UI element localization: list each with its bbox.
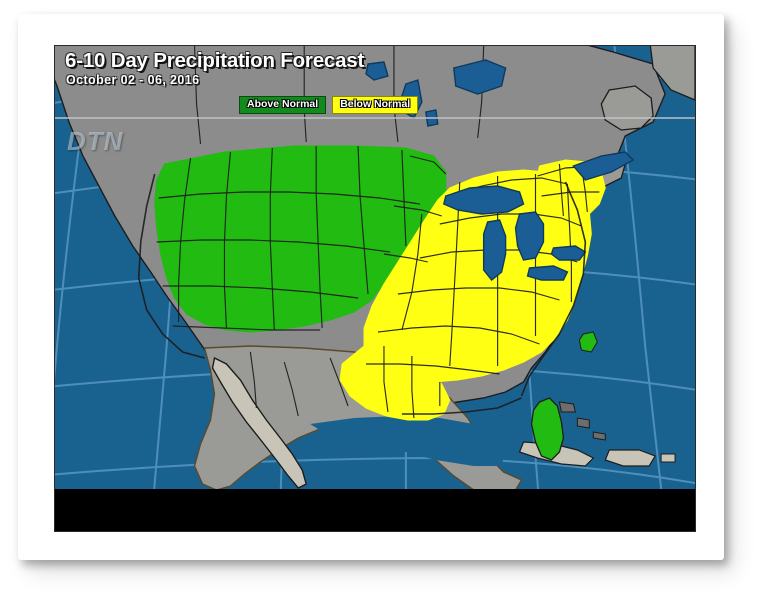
map-canvas[interactable]: DTN 6-10 Day Precipitation Forecast Octo… (55, 46, 695, 490)
page-card: DTN 6-10 Day Precipitation Forecast Octo… (18, 14, 724, 560)
map-footer-band (55, 489, 695, 531)
map-legend: Above Normal Below Normal (239, 96, 418, 114)
inland-lake-small-2 (426, 110, 438, 126)
inland-lake-small (366, 62, 388, 80)
lake-michigan (484, 220, 506, 280)
island-bahamas-1 (559, 402, 575, 412)
legend-item-below-normal[interactable]: Below Normal (332, 96, 418, 114)
island-bahamas-3 (593, 432, 605, 440)
island-puerto-rico (661, 454, 675, 462)
island-bahamas-2 (577, 418, 589, 428)
precipitation-forecast-map[interactable]: DTN 6-10 Day Precipitation Forecast Octo… (54, 45, 696, 532)
legend-item-above-normal[interactable]: Above Normal (239, 96, 326, 114)
